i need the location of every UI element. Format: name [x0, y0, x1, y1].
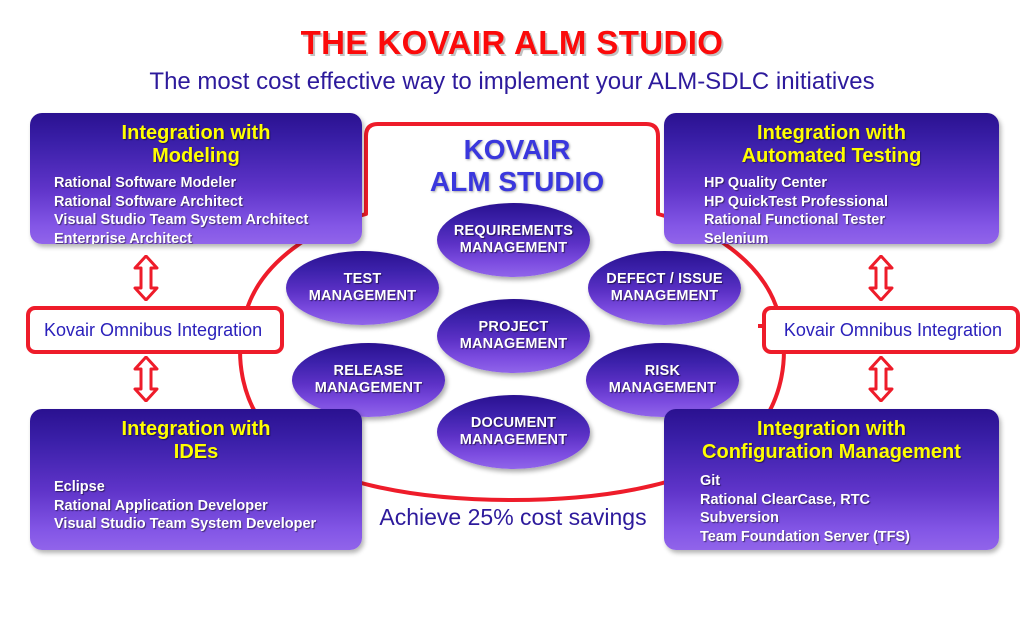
list-item: Selenium	[704, 230, 999, 245]
list-item: Rational Functional Tester	[704, 211, 999, 230]
list-item: HP QuickTest Professional	[704, 193, 999, 212]
list-item: Subversion	[700, 509, 999, 528]
cost-savings-tagline: Achieve 25% cost savings	[338, 504, 688, 531]
omnibus-label: Kovair Omnibus Integration	[784, 320, 1002, 341]
page-title: THE KOVAIR ALM STUDIO	[0, 24, 1024, 62]
module-label: RELEASEMANAGEMENT	[315, 363, 423, 398]
panel-title: Integration withConfiguration Management	[664, 418, 999, 464]
panel-item-list: Eclipse Rational Application Developer V…	[30, 478, 362, 534]
page-subtitle: The most cost effective way to implement…	[0, 68, 1024, 96]
panel-title: Integration withModeling	[30, 122, 362, 168]
double-arrow-icon	[868, 356, 894, 402]
center-brand-title: KOVAIR ALM STUDIO	[372, 134, 662, 198]
module-defect-issue-management[interactable]: DEFECT / ISSUEMANAGEMENT	[588, 251, 741, 325]
list-item: Rational Software Architect	[54, 193, 362, 212]
list-item: Rational ClearCase, RTC	[700, 491, 999, 510]
list-item: Rational Application Developer	[54, 497, 362, 516]
list-item: HP Quality Center	[704, 174, 999, 193]
panel-title: Integration withAutomated Testing	[664, 122, 999, 168]
module-label: TESTMANAGEMENT	[309, 271, 417, 306]
module-label: DOCUMENTMANAGEMENT	[460, 415, 568, 450]
panel-item-list: Rational Software Modeler Rational Softw…	[30, 174, 362, 244]
panel-integration-automated-testing[interactable]: Integration withAutomated Testing HP Qua…	[664, 113, 999, 244]
module-release-management[interactable]: RELEASEMANAGEMENT	[292, 343, 445, 417]
panel-title: Integration withIDEs	[30, 418, 362, 464]
panel-item-list: HP Quality Center HP QuickTest Professio…	[664, 174, 999, 244]
double-arrow-icon	[133, 356, 159, 402]
module-label: RISKMANAGEMENT	[609, 363, 717, 398]
diagram-canvas: THE KOVAIR ALM STUDIO The most cost effe…	[0, 0, 1024, 626]
module-requirements-management[interactable]: REQUIREMENTSMANAGEMENT	[437, 203, 590, 277]
list-item: Visual Studio Team System Developer	[54, 515, 362, 534]
module-test-management[interactable]: TESTMANAGEMENT	[286, 251, 439, 325]
module-label: PROJECTMANAGEMENT	[460, 319, 568, 354]
module-risk-management[interactable]: RISKMANAGEMENT	[586, 343, 739, 417]
module-project-management[interactable]: PROJECTMANAGEMENT	[437, 299, 590, 373]
module-label: DEFECT / ISSUEMANAGEMENT	[606, 271, 722, 306]
list-item: Team Foundation Server (TFS)	[700, 528, 999, 547]
double-arrow-icon	[133, 255, 159, 301]
list-item: Rational Software Modeler	[54, 174, 362, 193]
center-brand-line2: ALM STUDIO	[372, 166, 662, 198]
double-arrow-icon	[868, 255, 894, 301]
list-item: Enterprise Architect	[54, 230, 362, 245]
list-item: Git	[700, 472, 999, 491]
list-item: Eclipse	[54, 478, 362, 497]
center-brand-line1: KOVAIR	[372, 134, 662, 166]
module-document-management[interactable]: DOCUMENTMANAGEMENT	[437, 395, 590, 469]
omnibus-integration-left[interactable]: Kovair Omnibus Integration	[26, 306, 284, 354]
module-label: REQUIREMENTSMANAGEMENT	[454, 223, 573, 258]
panel-item-list: Git Rational ClearCase, RTC Subversion T…	[664, 472, 999, 546]
list-item: Visual Studio Team System Architect	[54, 211, 362, 230]
panel-integration-ides[interactable]: Integration withIDEs Eclipse Rational Ap…	[30, 409, 362, 550]
omnibus-label: Kovair Omnibus Integration	[44, 320, 262, 341]
panel-integration-configuration-management[interactable]: Integration withConfiguration Management…	[664, 409, 999, 550]
panel-integration-modeling[interactable]: Integration withModeling Rational Softwa…	[30, 113, 362, 244]
omnibus-integration-right[interactable]: Kovair Omnibus Integration	[762, 306, 1020, 354]
